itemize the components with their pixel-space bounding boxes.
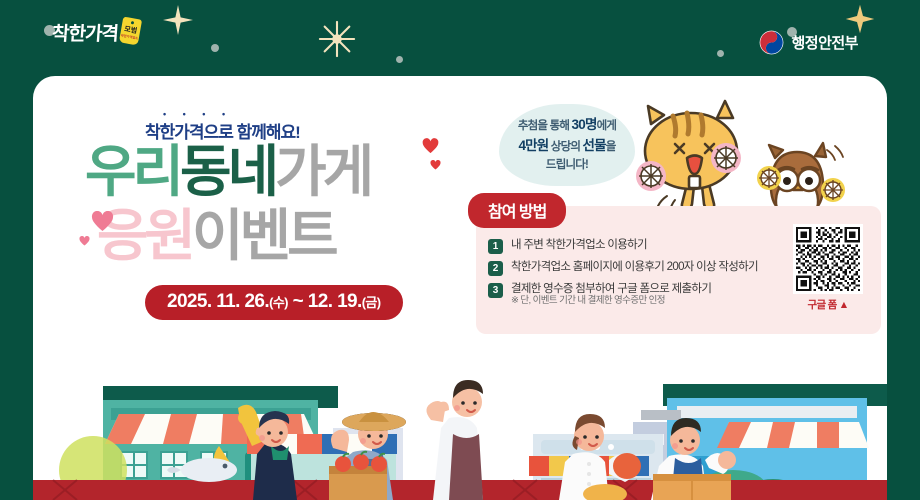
ministry-name: 행정안전부 — [791, 32, 858, 53]
main-card: • • • • 착한가격으로 함께해요! 우리동네가게 응원이벤트 2025. … — [33, 76, 887, 348]
step-label: 내 주변 착한가격업소 이용하기 — [511, 238, 647, 253]
event-date-badge: 2025. 11. 26.(수) ~ 12. 19.(금) — [145, 285, 403, 320]
howto-title-badge: 참여 방법 — [468, 193, 566, 228]
date-start: 2025. 11. 26. — [167, 291, 269, 312]
heart-icon — [422, 138, 439, 154]
date-separator: ~ — [293, 291, 304, 312]
prize-line-2: 4만원 상당의 선물을 — [518, 136, 615, 157]
taegeuk-icon — [759, 30, 784, 55]
date-start-weekday: (수) — [269, 295, 288, 310]
brand-tag-icon: 모범 착한가격업소 — [119, 17, 142, 46]
qr-label: 구글 폼 ▲ — [791, 297, 865, 312]
heart-icon — [91, 211, 114, 232]
prize-speech-bubble: 추첨을 통해 30명에게 4만원 상당의 선물을 드립니다! — [499, 104, 635, 186]
prize-l1-pre: 추첨을 통해 — [518, 120, 572, 132]
prize-amount: 4만원 — [518, 138, 548, 153]
headline-line-1: 우리동네가게 — [85, 144, 370, 200]
headline-seg-event: 이벤트 — [192, 204, 335, 267]
promo-poster: 착한가격 모범 착한가격업소 행정안전부 • • • • 착한가격으로 함께해요… — [0, 0, 920, 500]
step-number-badge: 3 — [488, 283, 503, 298]
step-number-badge: 1 — [488, 239, 503, 254]
prize-line-3: 드립니다! — [546, 157, 588, 175]
google-form-qr-code[interactable] — [793, 224, 863, 294]
date-end: 12. 19. — [308, 291, 362, 312]
qr-block: 구글 폼 ▲ — [791, 224, 865, 312]
eyebrow-dots: • • • • — [163, 109, 232, 119]
prize-count: 30명 — [572, 117, 597, 132]
heart-icon — [79, 236, 90, 246]
market-street-illustration — [33, 348, 887, 500]
headline-seg-gage: 가게 — [275, 140, 370, 203]
sparkle-icon — [163, 5, 193, 35]
headline-seg-uri: 우리 — [85, 140, 180, 203]
howto-note: ※ 단, 이벤트 기간 내 결제한 영수증만 인정 — [511, 292, 665, 306]
date-end-weekday: (금) — [362, 295, 381, 310]
step-number-badge: 2 — [488, 261, 503, 276]
heart-icon — [430, 160, 441, 170]
decor-dot — [211, 44, 219, 52]
ministry-mark: 행정안전부 — [759, 30, 858, 55]
howto-step: 2 착한가격업소 홈페이지에 이용후기 200자 이상 작성하기 — [488, 260, 758, 276]
howto-step: 1 내 주변 착한가격업소 이용하기 — [488, 238, 758, 254]
headline-seg-dongne: 동네 — [180, 140, 275, 203]
prize-line-1: 추첨을 통해 30명에게 — [518, 115, 616, 136]
prize-gift-word: 선물 — [583, 138, 606, 153]
prize-l2-post: 을 — [606, 141, 616, 153]
howto-panel: 참여 방법 1 내 주변 착한가격업소 이용하기 2 착한가격업소 홈페이지에 … — [476, 206, 881, 334]
decor-dot — [717, 50, 724, 57]
step-label: 착한가격업소 홈페이지에 이용후기 200자 이상 작성하기 — [511, 260, 758, 275]
brand-logo: 착한가격 모범 착한가격업소 — [52, 18, 140, 44]
prize-l1-post: 에게 — [597, 120, 617, 132]
cheering-cat-character — [629, 96, 759, 219]
sparkle-icon — [318, 20, 356, 58]
decor-dot — [396, 56, 403, 63]
brand-logo-text: 착한가격 — [51, 25, 118, 44]
prize-l2-mid: 상당의 — [548, 141, 582, 153]
headline-line-2: 응원이벤트 — [97, 208, 335, 264]
